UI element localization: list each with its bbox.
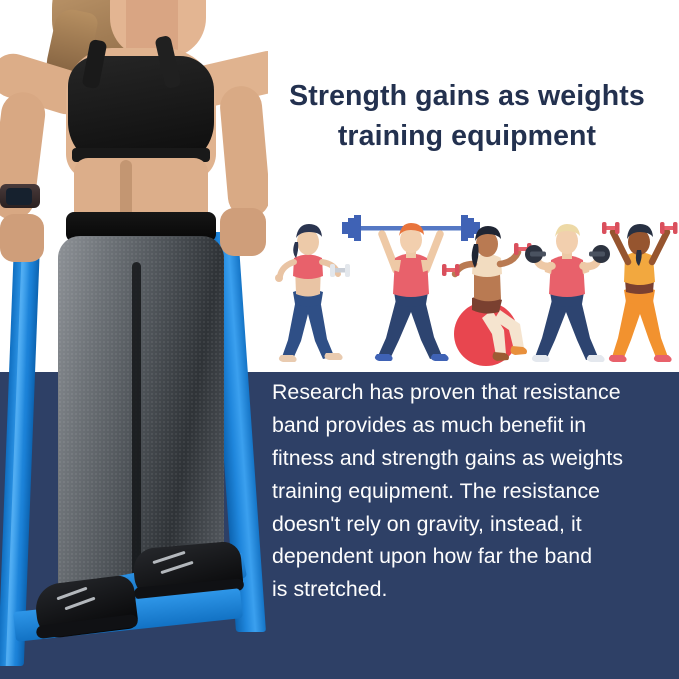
body-line-7: is stretched. xyxy=(272,573,672,606)
page-title: Strength gains as weights training equip… xyxy=(258,76,676,157)
headline-line-2: training equipment xyxy=(258,116,676,156)
smartwatch-face xyxy=(6,188,32,205)
headline-line-1: Strength gains as weights xyxy=(258,76,676,116)
body-line-5: doesn't rely on gravity, instead, it xyxy=(272,508,672,541)
exercise-figures-illustration xyxy=(268,214,679,372)
body-line-3: fitness and strength gains as weights xyxy=(272,442,672,475)
model-leggings-texture xyxy=(58,236,224,596)
model-left-hand-grip xyxy=(0,214,44,262)
body-line-2: band provides as much benefit in xyxy=(272,409,672,442)
product-infographic: Strength gains as weights training equip… xyxy=(0,0,679,679)
description-text: Research has proven that resistance band… xyxy=(272,376,672,606)
body-line-1: Research has proven that resistance xyxy=(272,376,672,409)
dumbbell-icon xyxy=(589,245,610,263)
figure-man-shoulder-press xyxy=(525,224,610,362)
figure-woman-arms-raised xyxy=(602,222,678,362)
body-line-4: training equipment. The resistance xyxy=(272,475,672,508)
body-line-6: dependent upon how far the band xyxy=(272,540,672,573)
model-right-hand-grip xyxy=(220,208,266,256)
figure-woman-on-exercise-ball xyxy=(442,226,532,366)
hero-photo xyxy=(0,0,268,679)
figure-woman-with-dumbbell xyxy=(275,224,350,362)
dumbbell-icon xyxy=(525,245,546,263)
dumbbell-icon xyxy=(442,264,460,276)
model-leg-separation xyxy=(132,262,141,592)
